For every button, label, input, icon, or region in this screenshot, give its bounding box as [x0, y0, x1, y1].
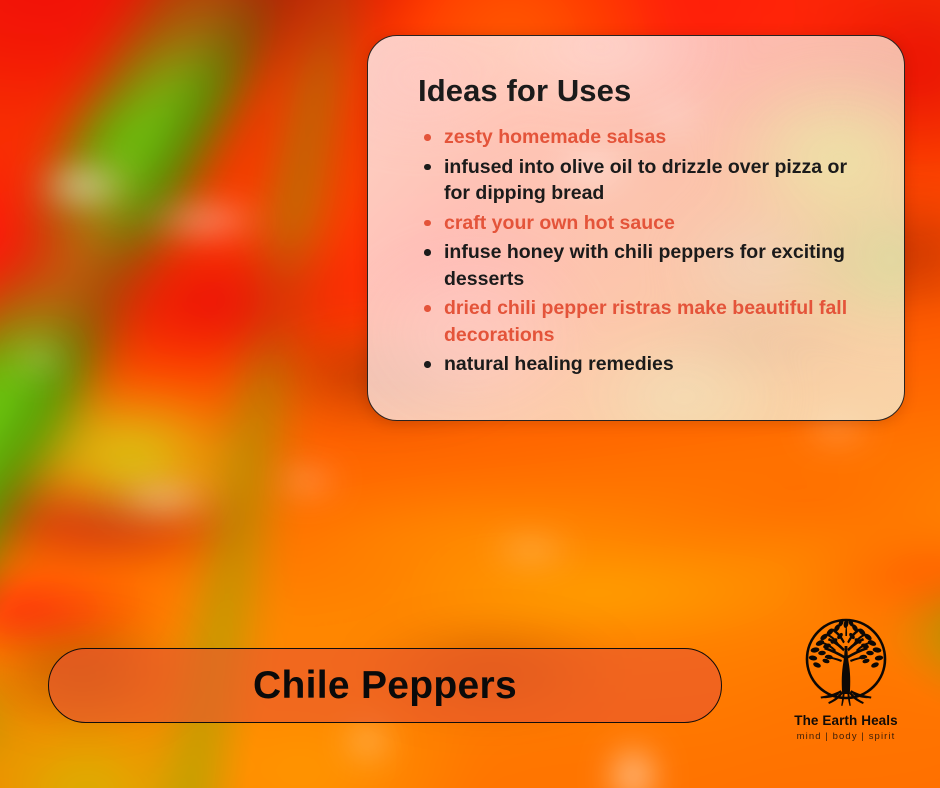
list-item: infused into olive oil to drizzle over p… — [418, 154, 878, 207]
ideas-for-uses-card: Ideas for Uses zesty homemade salsas inf… — [367, 35, 905, 421]
list-item-text: natural healing remedies — [444, 353, 674, 375]
logo: The Earth Heals mind | body | spirit — [780, 612, 912, 760]
list-item-text: craft your own hot sauce — [444, 212, 675, 234]
tree-of-life-icon — [796, 612, 896, 712]
list-item-text: infuse honey with chili peppers for exci… — [444, 241, 845, 290]
card-content: Ideas for Uses zesty homemade salsas inf… — [368, 36, 904, 378]
uses-list: zesty homemade salsas infused into olive… — [418, 124, 878, 378]
logo-brand-name: The Earth Heals — [794, 713, 898, 728]
list-item: dried chili pepper ristras make beautifu… — [418, 295, 878, 348]
list-item-text: infused into olive oil to drizzle over p… — [444, 156, 847, 205]
logo-tagline: mind | body | spirit — [797, 731, 896, 742]
list-item: infuse honey with chili peppers for exci… — [418, 239, 878, 292]
poster-canvas: Ideas for Uses zesty homemade salsas inf… — [0, 0, 940, 788]
list-item-text: dried chili pepper ristras make beautifu… — [444, 297, 847, 346]
list-item-text: zesty homemade salsas — [444, 126, 666, 148]
list-item: natural healing remedies — [418, 351, 878, 378]
list-item: zesty homemade salsas — [418, 124, 878, 151]
title-banner: Chile Peppers — [48, 648, 722, 723]
card-title: Ideas for Uses — [418, 74, 878, 108]
list-item: craft your own hot sauce — [418, 210, 878, 237]
title-banner-label: Chile Peppers — [253, 666, 517, 705]
